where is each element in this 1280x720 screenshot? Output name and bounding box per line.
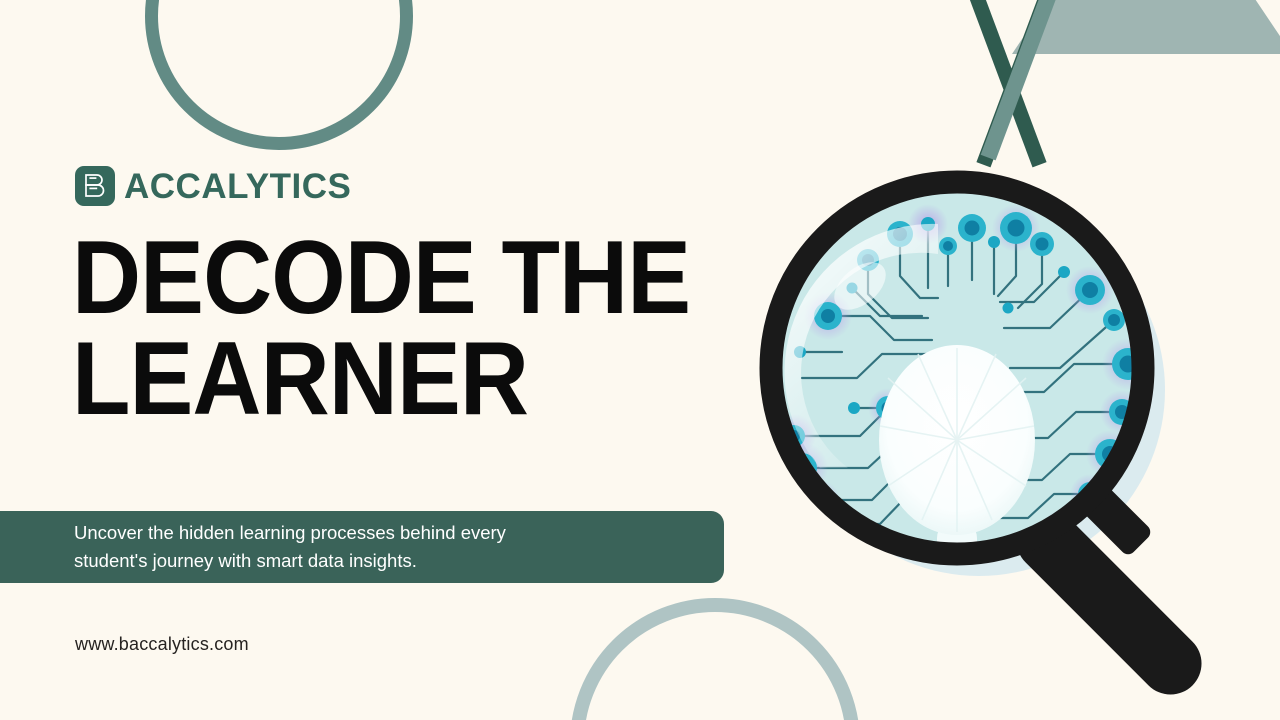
magnifying-glass-illustration	[742, 168, 1280, 720]
subtitle-banner: Uncover the hidden learning processes be…	[0, 511, 724, 583]
hero-content: ACCALYTICS DECODE THE LEARNER Uncover th…	[0, 0, 760, 720]
chevron-left-arm	[948, 0, 1046, 167]
dark-green-chevron-decoration	[948, 0, 1078, 155]
poster-canvas: ACCALYTICS DECODE THE LEARNER Uncover th…	[0, 0, 1280, 720]
chevron-right-arm	[976, 0, 1074, 167]
sage-trapezoid-decoration	[1012, 0, 1280, 54]
page-title: DECODE THE LEARNER	[72, 228, 707, 430]
green-diagonal-stripe-decoration	[981, 0, 1076, 160]
subtitle-text: Uncover the hidden learning processes be…	[0, 519, 530, 575]
brand-logo[interactable]: ACCALYTICS	[75, 166, 351, 206]
brand-wordmark: ACCALYTICS	[124, 169, 351, 204]
letter-b-monogram-icon	[75, 166, 115, 206]
website-url[interactable]: www.baccalytics.com	[75, 634, 249, 655]
